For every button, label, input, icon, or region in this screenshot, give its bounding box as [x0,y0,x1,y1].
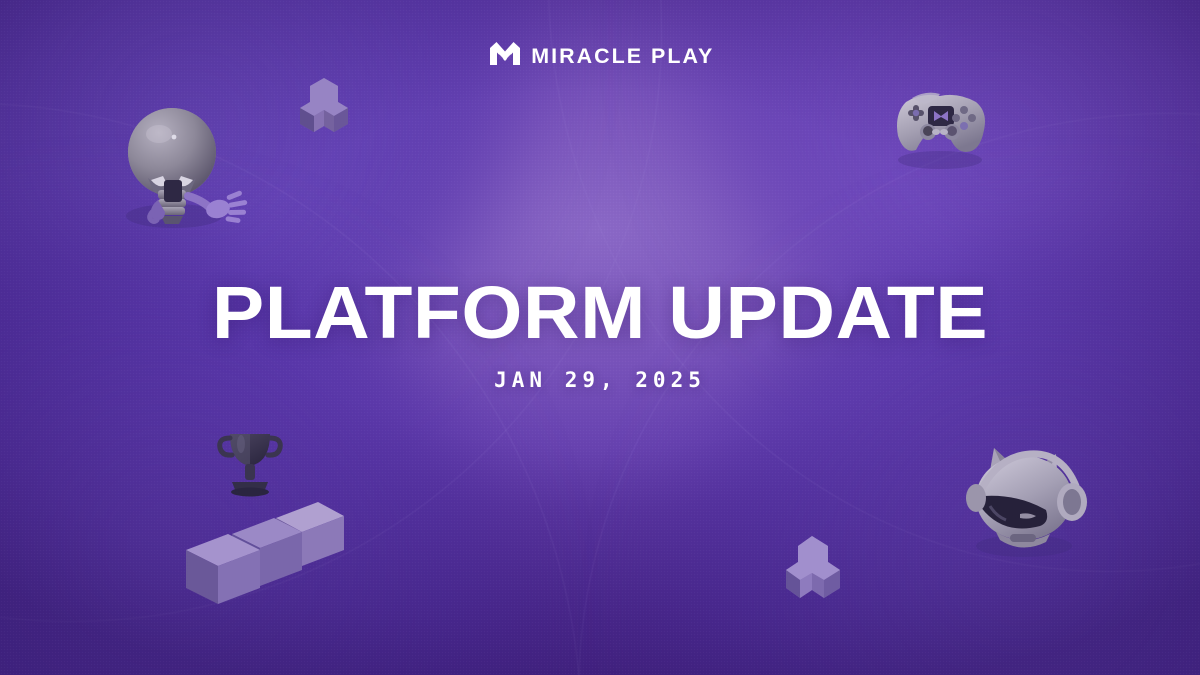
game-controller-icon [886,80,998,174]
platform-update-banner: MIRACLE PLAY [0,0,1200,675]
voxel-cross-bottom-icon [772,528,856,620]
podium-blocks-icon [176,494,346,606]
brand-logo: MIRACLE PLAY [0,40,1200,72]
trophy-icon [214,424,286,500]
page-title: PLATFORM UPDATE [0,278,1200,348]
voxel-cross-top-icon [286,68,362,152]
hero-date: JAN 29, 2025 [0,368,1200,392]
hero-text-block: PLATFORM UPDATE JAN 29, 2025 [0,278,1200,392]
gaming-helmet-icon [958,440,1090,562]
miracle-play-m-logo-icon [488,40,522,72]
brand-name: MIRACLE PLAY [531,46,714,67]
lightbulb-character-icon [118,104,254,254]
